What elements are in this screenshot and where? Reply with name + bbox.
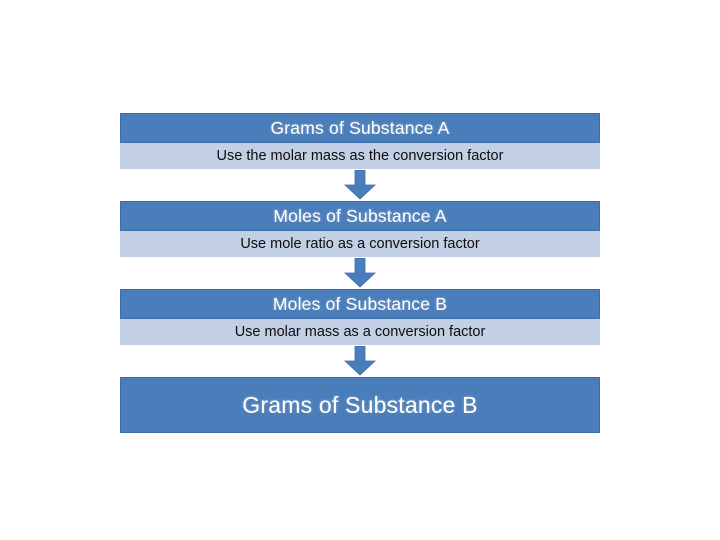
- step-header-moles-b: Moles of Substance B: [120, 289, 600, 319]
- step-header-grams-b: Grams of Substance B: [120, 377, 600, 433]
- step-header-grams-a: Grams of Substance A: [120, 113, 600, 143]
- step-caption-moles-b: Use molar mass as a conversion factor: [120, 319, 600, 345]
- flowchart: Grams of Substance A Use the molar mass …: [120, 113, 600, 433]
- flow-step-moles-a: Moles of Substance A Use mole ratio as a…: [120, 201, 600, 257]
- step-header-moles-a: Moles of Substance A: [120, 201, 600, 231]
- flow-step-grams-a: Grams of Substance A Use the molar mass …: [120, 113, 600, 169]
- arrow-down-icon: [344, 258, 376, 288]
- connector-arrow-1: [120, 169, 600, 201]
- step-caption-grams-a: Use the molar mass as the conversion fac…: [120, 143, 600, 169]
- connector-arrow-3: [120, 345, 600, 377]
- flow-step-grams-b: Grams of Substance B: [120, 377, 600, 433]
- arrow-down-icon: [344, 346, 376, 376]
- step-caption-moles-a: Use mole ratio as a conversion factor: [120, 231, 600, 257]
- connector-arrow-2: [120, 257, 600, 289]
- flow-step-moles-b: Moles of Substance B Use molar mass as a…: [120, 289, 600, 345]
- arrow-down-icon: [344, 170, 376, 200]
- slide-canvas: Grams of Substance A Use the molar mass …: [0, 0, 720, 540]
